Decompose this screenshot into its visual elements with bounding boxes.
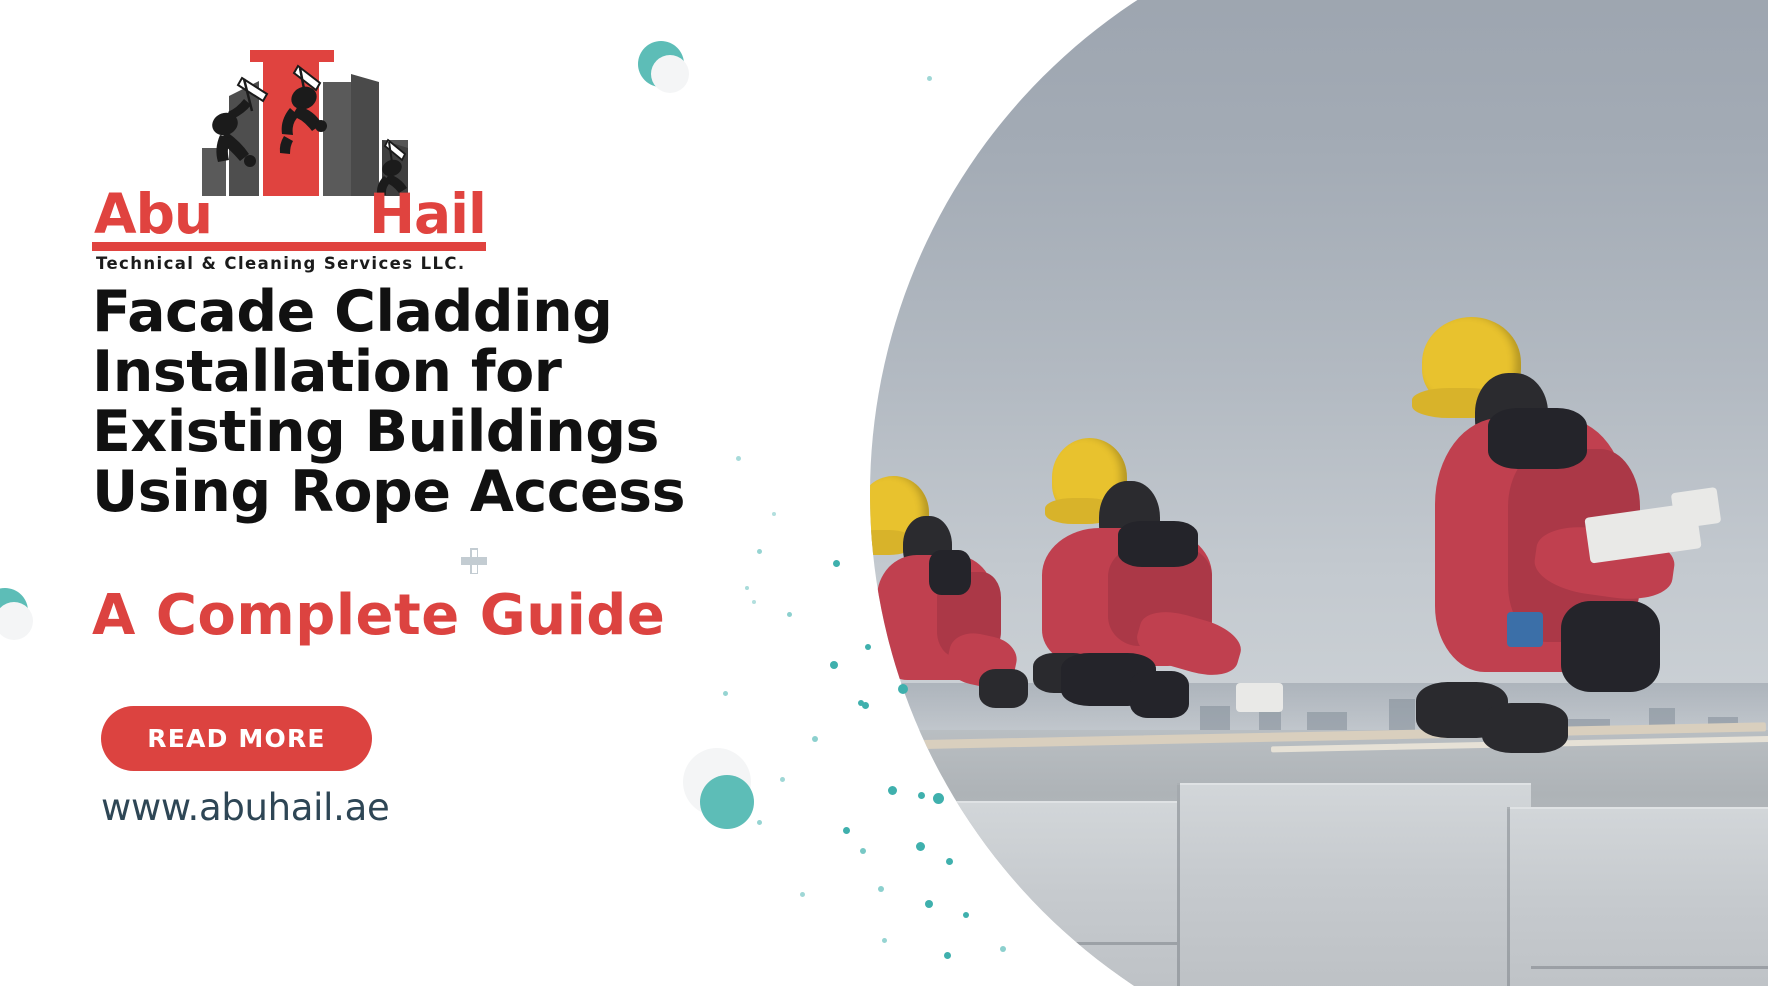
plus-icon xyxy=(461,548,487,574)
logo-building-artwork xyxy=(92,36,492,196)
circle-accent-top-gray xyxy=(651,55,689,93)
hero-photo-circle xyxy=(870,0,1768,986)
circle-accent-bottom-teal xyxy=(700,775,754,829)
headline-line-1: Facade Cladding xyxy=(92,282,712,342)
logo-wordmark: Abu Hail xyxy=(92,186,492,242)
company-logo[interactable]: Abu Hail Technical & Cleaning Services L… xyxy=(92,36,492,242)
worker-left xyxy=(870,470,1035,753)
headline-line-2: Installation for xyxy=(92,342,712,402)
rope-access-photo xyxy=(870,0,1768,986)
logo-word-abu: Abu xyxy=(94,186,212,242)
parapet-left xyxy=(870,801,1224,986)
subtitle: A Complete Guide xyxy=(92,584,665,648)
poster-canvas: Abu Hail Technical & Cleaning Services L… xyxy=(0,0,1768,986)
logo-underline xyxy=(92,242,486,251)
headline-line-3: Existing Buildings xyxy=(92,402,712,462)
blue-bucket xyxy=(1507,612,1542,647)
worker-foreground xyxy=(1389,317,1719,824)
parapet-right xyxy=(1507,807,1768,986)
website-url[interactable]: www.abuhail.ae xyxy=(101,786,389,829)
logo-word-hail: Hail xyxy=(369,186,486,242)
rooftop-tool xyxy=(1236,683,1283,713)
logo-tagline: Technical & Cleaning Services LLC. xyxy=(96,254,466,273)
read-more-button[interactable]: READ MORE xyxy=(101,706,372,771)
headline-line-4: Using Rope Access xyxy=(92,462,712,522)
rooftop-equipment xyxy=(1130,671,1189,718)
circle-accent-left-gray xyxy=(0,602,33,640)
page-title: Facade Cladding Installation for Existin… xyxy=(92,282,712,522)
